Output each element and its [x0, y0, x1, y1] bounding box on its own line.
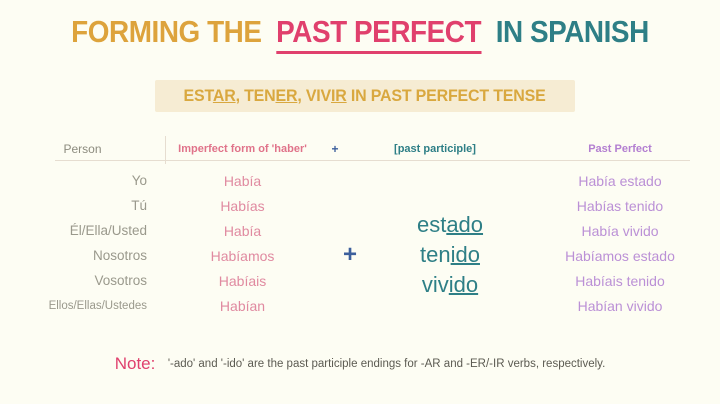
participle-stem: viv: [422, 272, 449, 297]
cell-past-perfect: Habías tenido: [520, 198, 720, 214]
cell-haber: Habías: [165, 198, 320, 214]
page-title: FORMING THE PAST PERFECT IN SPANISH: [36, 16, 684, 47]
title-part-in-spanish: IN SPANISH: [496, 14, 649, 49]
participle-ending: ido: [451, 242, 480, 267]
subtitle-verb2-stem: TEN: [245, 86, 276, 105]
plus-operator: +: [330, 243, 370, 267]
title-part-past-perfect: PAST PERFECT: [276, 14, 481, 54]
cell-person: Tú: [0, 198, 165, 213]
table-body: Yo Había Había estado Tú Habías Habías t…: [0, 160, 720, 318]
table-row: Ellos/Ellas/Ustedes Habían Habían vivido: [0, 293, 720, 318]
table-row: Tú Habías Habías tenido: [0, 193, 720, 218]
column-header-plus: +: [320, 142, 350, 156]
cell-person: Vosotros: [0, 273, 165, 288]
cell-person: Él/Ella/Usted: [0, 223, 165, 238]
participle-stem: est: [417, 212, 446, 237]
cell-haber: Habíais: [165, 273, 320, 289]
participle-item-tenido: tenido: [375, 240, 525, 270]
table-row: Vosotros Habíais Habíais tenido: [0, 268, 720, 293]
cell-person: Ellos/Ellas/Ustedes: [0, 300, 165, 312]
subtitle-verb1-ending: AR: [213, 86, 236, 105]
subtitle-verb3-ending: IR: [331, 86, 347, 105]
subtitle-banner: ESTAR, TENER, VIVIR IN PAST PERFECT TENS…: [155, 80, 575, 112]
subtitle-suffix: IN PAST PERFECT TENSE: [347, 86, 546, 105]
cell-haber: Había: [165, 173, 320, 189]
cell-haber: Había: [165, 223, 320, 239]
column-header-participle: [past participle]: [350, 143, 520, 155]
column-header-person: Person: [0, 142, 165, 156]
subtitle-text: ESTAR, TENER, VIVIR IN PAST PERFECT TENS…: [184, 86, 546, 106]
table-header-row: Person Imperfect form of 'haber' + [past…: [0, 138, 720, 160]
cell-past-perfect: Había estado: [520, 173, 720, 189]
participle-list: estado tenido vivido: [375, 210, 525, 300]
participle-ending: ido: [449, 272, 478, 297]
column-header-haber: Imperfect form of 'haber': [165, 143, 320, 155]
cell-past-perfect: Había vivido: [520, 223, 720, 239]
participle-stem: ten: [420, 242, 451, 267]
table-row: Él/Ella/Usted Había Había vivido: [0, 218, 720, 243]
cell-haber: Habíamos: [165, 248, 320, 264]
cell-past-perfect: Habíais tenido: [520, 273, 720, 289]
column-header-past-perfect: Past Perfect: [520, 143, 720, 155]
footer-note: Note: '-ado' and '-ido' are the past par…: [0, 354, 720, 374]
subtitle-verb3-stem: VIV: [306, 86, 331, 105]
participle-item-estado: estado: [375, 210, 525, 240]
participle-item-vivido: vivido: [375, 270, 525, 300]
note-label: Note:: [115, 354, 156, 373]
title-part-forming: FORMING THE: [71, 14, 261, 49]
note-text: '-ado' and '-ido' are the past participl…: [168, 358, 605, 370]
subtitle-verb2-ending: ER: [276, 86, 298, 105]
participle-ending: ado: [446, 212, 483, 237]
cell-person: Nosotros: [0, 248, 165, 263]
cell-past-perfect: Habían vivido: [520, 298, 720, 314]
cell-person: Yo: [0, 173, 165, 188]
cell-past-perfect: Habíamos estado: [520, 248, 720, 264]
conjugation-table: Person Imperfect form of 'haber' + [past…: [0, 138, 720, 318]
subtitle-verb1-stem: EST: [184, 86, 213, 105]
cell-haber: Habían: [165, 298, 320, 314]
table-row: Yo Había Había estado: [0, 168, 720, 193]
